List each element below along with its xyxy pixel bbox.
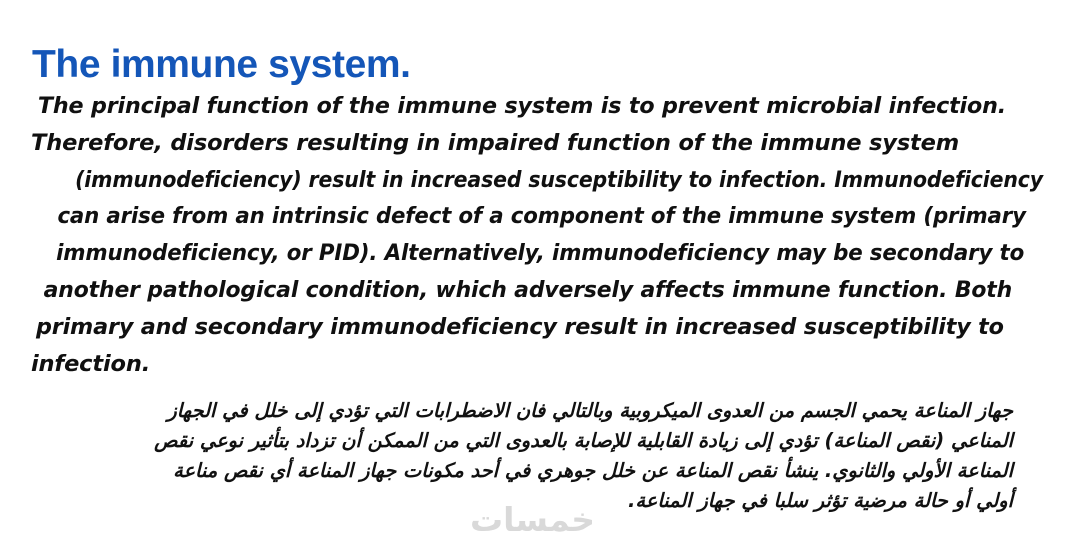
english-line: can arise from an intrinsic defect of a … (57, 198, 972, 235)
page-title: The immune system. (32, 43, 411, 88)
english-line: primary and secondary immunodeficiency r… (36, 309, 994, 346)
arabic-line: المناعي (نقص المناعة) تؤدي إلى زيادة الق… (60, 426, 1013, 456)
english-line: infection. (31, 346, 999, 383)
arabic-line: جهاز المناعة يحمي الجسم من العدوى الميكر… (60, 396, 1013, 426)
arabic-line: أولي أو حالة مرضية تؤثر سلبا في جهاز الم… (60, 486, 1013, 516)
english-line: immunodeficiency, or PID). Alternatively… (56, 235, 974, 272)
arabic-body-text: جهاز المناعة يحمي الجسم من العدوى الميكر… (55, 396, 1013, 516)
english-line: The principal function of the immune sys… (38, 88, 992, 125)
slide-canvas: The immune system. The principal functio… (0, 0, 1080, 552)
english-line: (immunodeficiency) result in increased s… (75, 162, 955, 199)
english-body-text: The principal function of the immune sys… (31, 88, 999, 382)
arabic-line: المناعة الأولي والثانوي. ينشأ نقص المناع… (60, 456, 1013, 486)
english-line: Therefore, disorders resulting in impair… (31, 125, 999, 162)
english-line: another pathological condition, which ad… (44, 272, 987, 309)
